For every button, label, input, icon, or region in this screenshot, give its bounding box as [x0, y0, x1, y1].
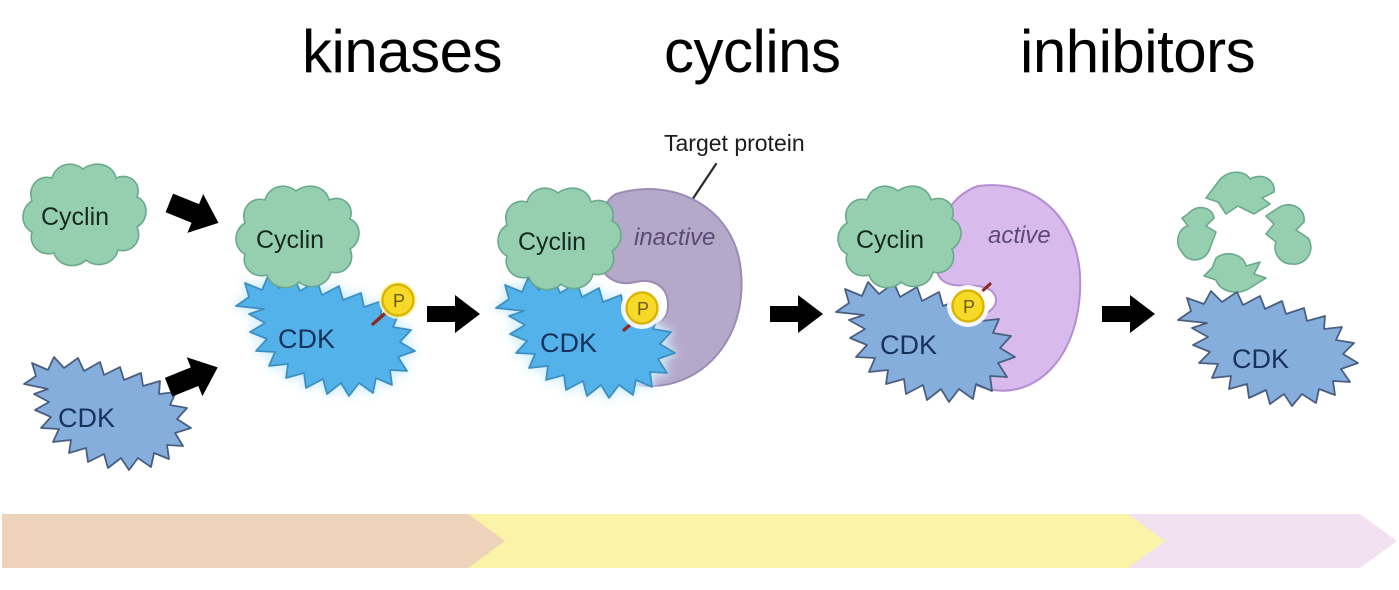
title-kinases: kinases — [302, 22, 502, 82]
cdk-spiky-shape — [836, 282, 1015, 402]
cyclin-blob-shape — [236, 186, 359, 287]
cyclin-blob-shape — [18, 158, 148, 278]
diagram-canvas: kinases cyclins inhibitors Cyclin — [0, 0, 1399, 590]
cdk-spiky-shape — [1178, 291, 1358, 406]
black-arrow-icon — [425, 293, 483, 335]
phosphate-circle-icon — [627, 293, 658, 324]
stage-target-inactive: Cyclin CDK inactive P — [488, 172, 788, 442]
process-banner: Cyclin binds and activates CDK CDK activ… — [0, 506, 1399, 576]
arrow-active-to-destroyed — [1100, 293, 1158, 335]
arrow-cdk-to-complex — [163, 350, 225, 406]
destroyed-cyclin-shape — [1166, 152, 1386, 442]
banner-arrows — [0, 506, 1399, 576]
active-complex-shape — [828, 172, 1118, 442]
black-arrow-icon — [163, 350, 225, 406]
banner-step-1-arrow — [2, 514, 505, 568]
banner-step-2-arrow — [462, 514, 1165, 568]
black-arrow-icon — [1100, 293, 1158, 335]
target-protein-label: Target protein — [664, 132, 805, 155]
stage-target-active: Cyclin CDK active P — [828, 172, 1118, 442]
arrow-complex-to-inactive — [425, 293, 483, 335]
inactive-complex-shape — [488, 172, 788, 442]
cyclin-blob-shape — [498, 188, 621, 289]
phosphate-circle-icon — [953, 291, 984, 322]
cyclin-cdk-complex-shape — [218, 176, 438, 436]
stage-cyclin-cdk-complex: Cyclin CDK P — [218, 176, 438, 436]
cyclin-blob-shape — [838, 186, 961, 287]
title-inhibitors: inhibitors — [1020, 22, 1255, 82]
stage-cyclin-destroyed: CDK — [1166, 152, 1386, 442]
pathway-diagram: Cyclin CDK — [0, 118, 1399, 488]
phosphate-circle-icon — [383, 285, 414, 316]
black-arrow-icon — [768, 293, 826, 335]
arrow-inactive-to-active — [768, 293, 826, 335]
black-arrow-icon — [163, 186, 225, 242]
title-cyclins: cyclins — [664, 22, 841, 82]
title-row: kinases cyclins inhibitors — [0, 8, 1399, 96]
arrow-cyclin-to-complex — [163, 186, 225, 242]
stage-free-cyclin: Cyclin — [18, 158, 148, 278]
cyclin-fragments — [1178, 172, 1311, 292]
